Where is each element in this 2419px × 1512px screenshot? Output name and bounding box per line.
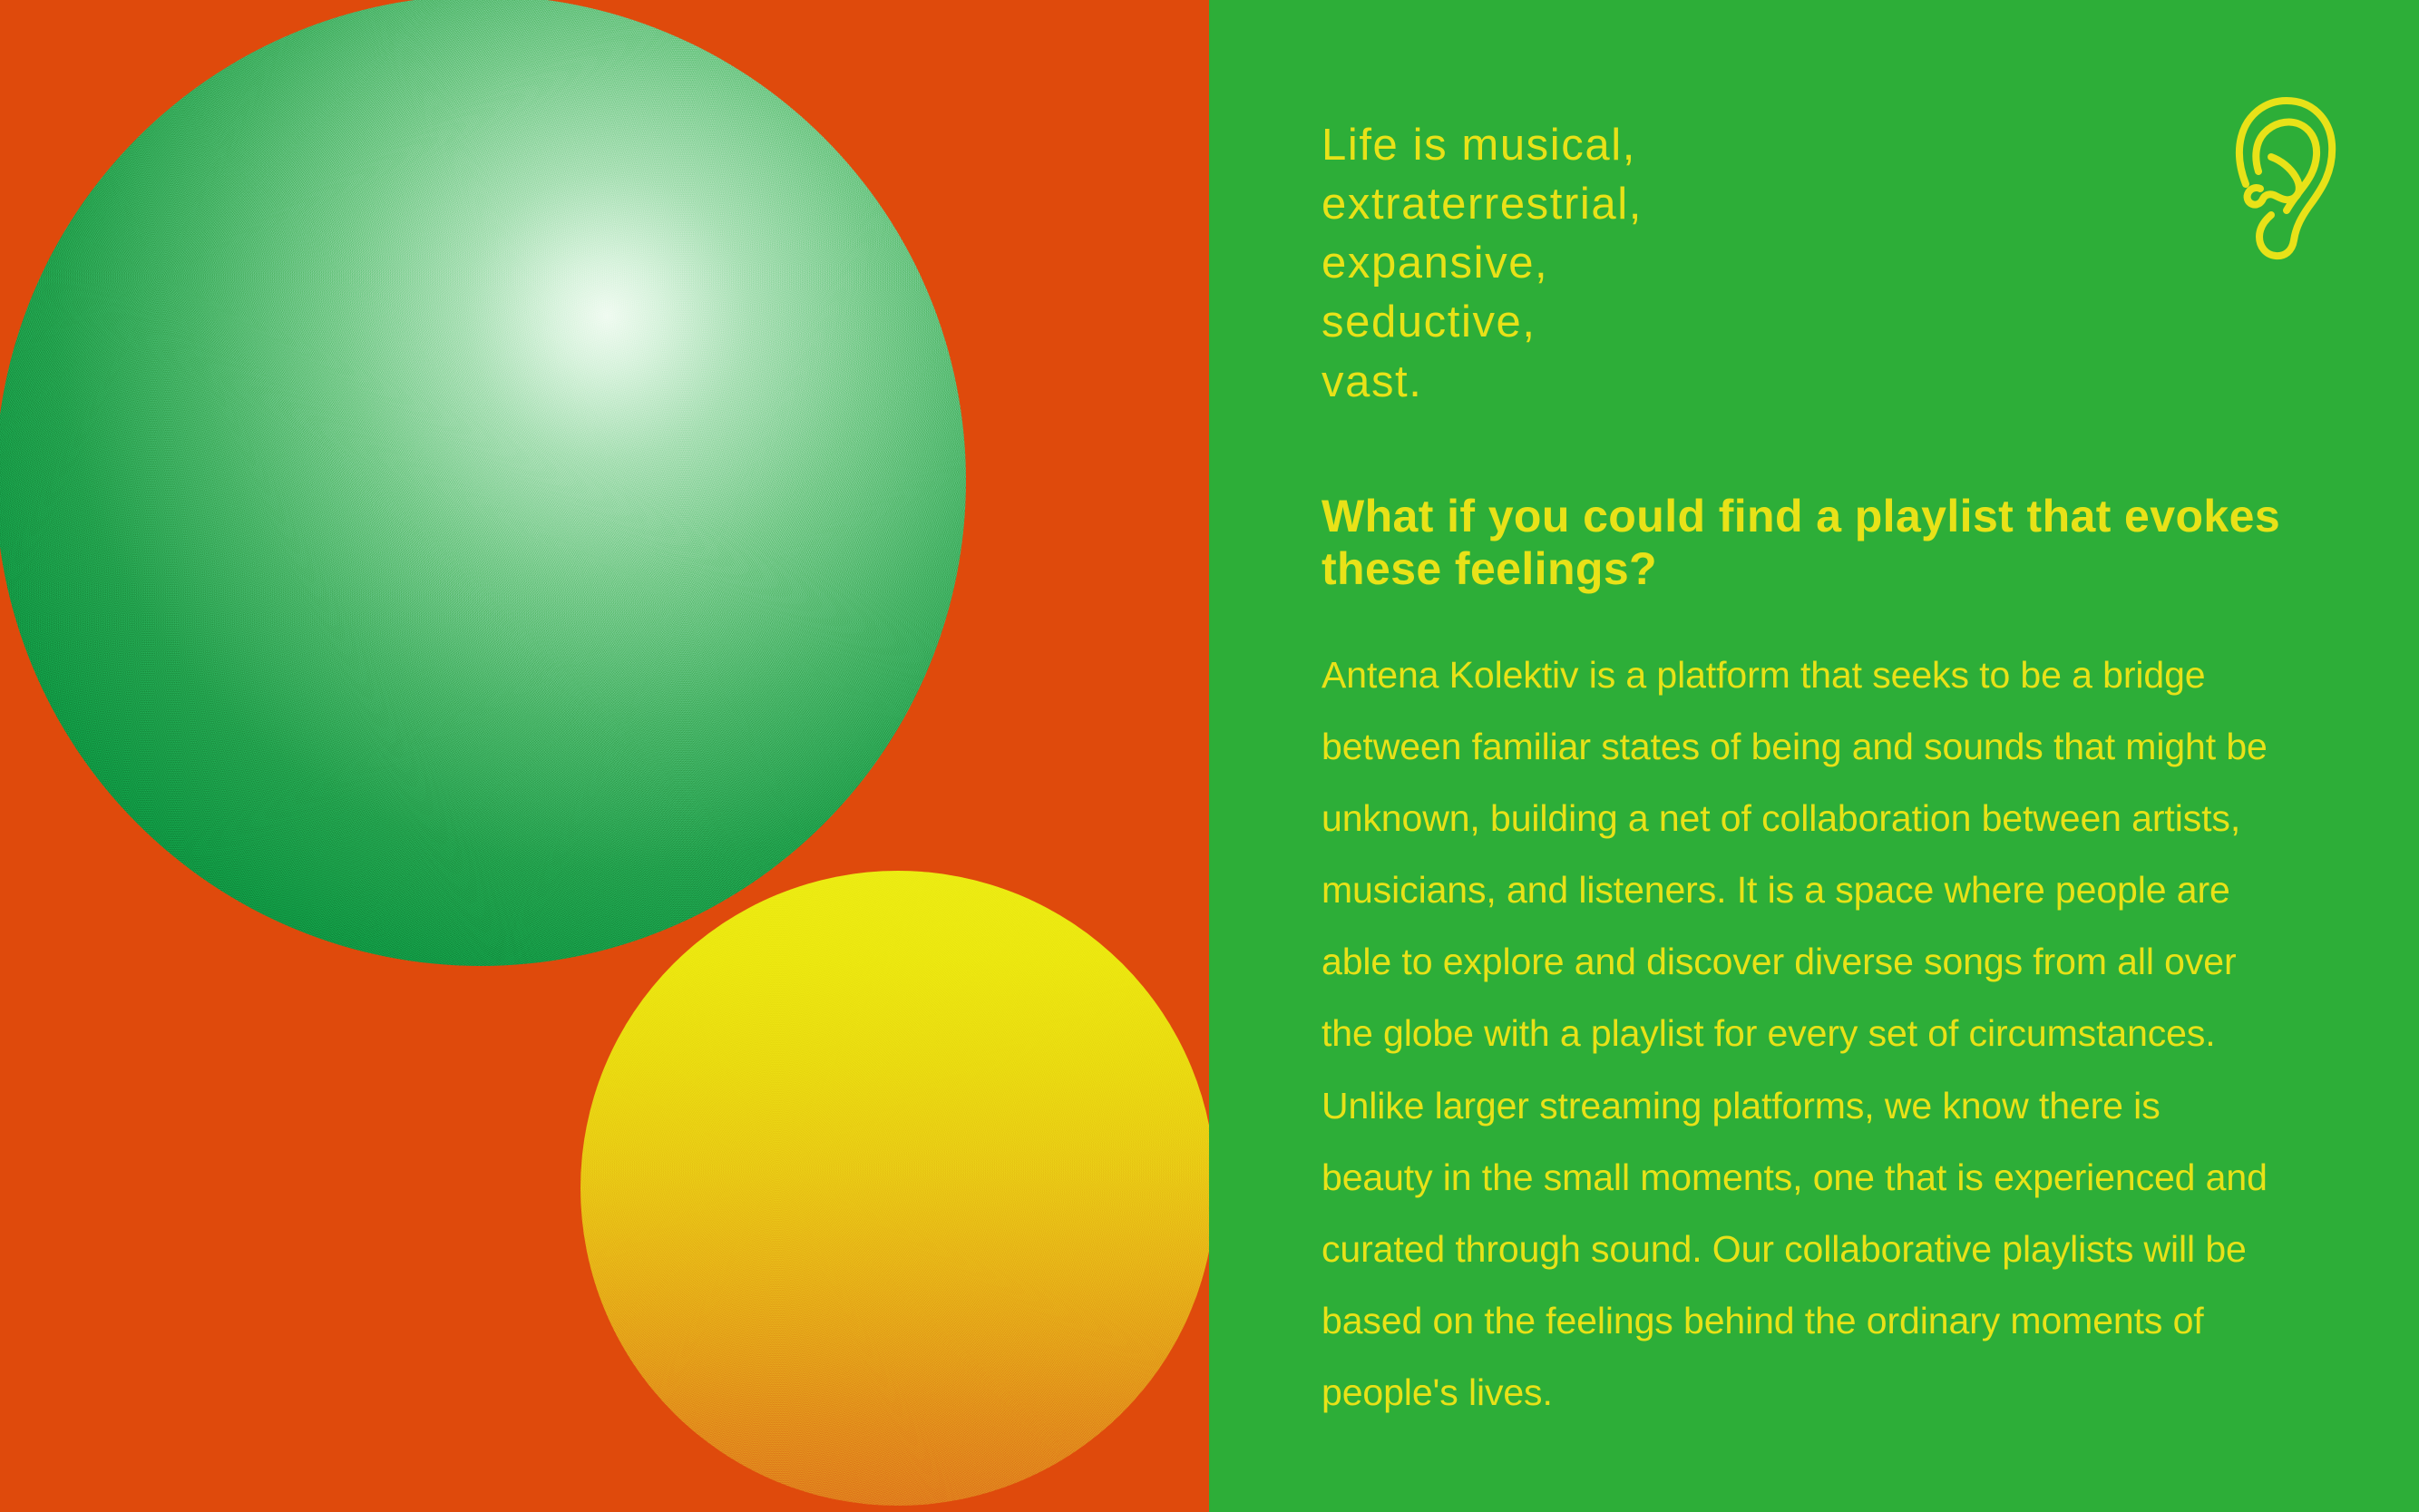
headline-line-3: expansive, [1322, 234, 2310, 293]
left-visual-panel [0, 0, 1209, 1512]
headline: Life is musical, extraterrestrial, expan… [1322, 116, 2310, 412]
subheading: What if you could find a playlist that e… [1322, 490, 2287, 596]
headline-line-5: vast. [1322, 353, 2310, 412]
yellow-sphere [580, 871, 1209, 1506]
green-sphere [0, 0, 966, 966]
green-sphere-grain-texture [0, 0, 966, 966]
headline-line-1: Life is musical, [1322, 116, 2310, 175]
text-content: Life is musical, extraterrestrial, expan… [1322, 116, 2310, 1429]
poster-page: Life is musical, extraterrestrial, expan… [0, 0, 2419, 1512]
headline-line-4: seductive, [1322, 293, 2310, 352]
headline-line-2: extraterrestrial, [1322, 175, 2310, 234]
yellow-sphere-grain-texture [580, 871, 1209, 1506]
body-paragraph: Antena Kolektiv is a platform that seeks… [1322, 639, 2278, 1429]
right-content-panel: Life is musical, extraterrestrial, expan… [1209, 0, 2419, 1512]
